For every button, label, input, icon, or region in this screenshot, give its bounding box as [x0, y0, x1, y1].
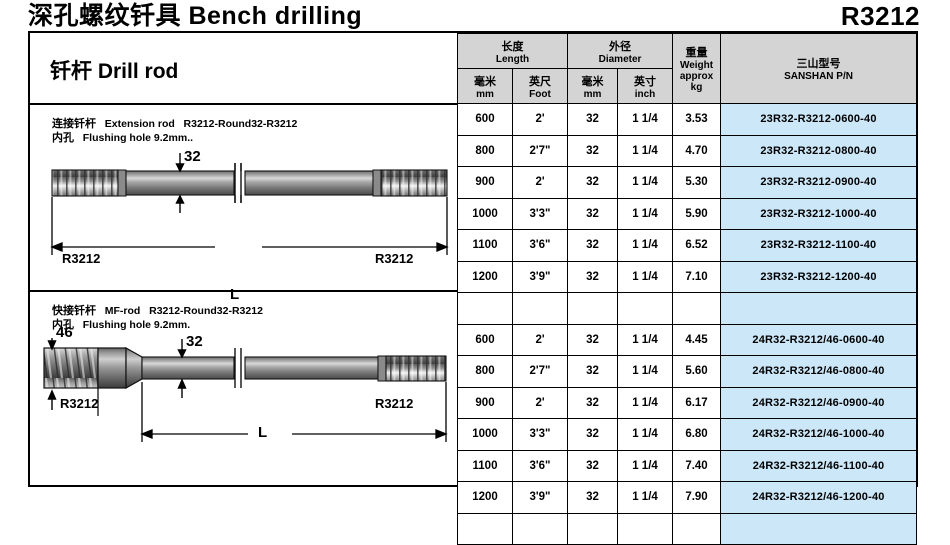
- cell-weight: 7.40: [673, 450, 721, 482]
- mf-rod-length-label: L: [258, 424, 267, 441]
- document-header: 深孔螺纹钎具 Bench drilling R3212: [0, 0, 950, 30]
- header-weight-unit: kg: [673, 82, 720, 93]
- header-weight: 重量 Weight approx kg: [673, 34, 721, 104]
- cell-part-number: 24R32-R3212/46-0900-40: [721, 387, 917, 419]
- cell-part-number: 23R32-R3212-1100-40: [721, 230, 917, 262]
- table-row: 6002'321 1/43.5323R32-R3212-0600-40: [458, 104, 917, 136]
- cell-length-foot: 3'6": [513, 230, 568, 262]
- series-code: R3212: [841, 1, 920, 31]
- cell-dia-inch: 1 1/4: [618, 419, 673, 451]
- cell-dia-mm: 32: [568, 419, 618, 451]
- header-dia-inch-en: inch: [618, 89, 672, 100]
- table-header-row-group: 长度 Length 外径 Diameter 重量 Weight approx k…: [458, 34, 917, 69]
- spacer-cell-weight: [673, 293, 721, 325]
- extension-rod-hole-note: 内孔 Flushing hole 9.2mm..: [52, 131, 193, 145]
- cell-length-foot: 2'7": [513, 356, 568, 388]
- extension-rod-left-thread-label: R3212: [62, 251, 100, 266]
- specifications-table-panel: 长度 Length 外径 Diameter 重量 Weight approx k…: [457, 33, 916, 485]
- cell-weight: 5.30: [673, 167, 721, 199]
- cell-length-mm: 600: [458, 104, 513, 136]
- cell-part-number: 24R32-R3212/46-0800-40: [721, 356, 917, 388]
- cell-weight: 6.17: [673, 387, 721, 419]
- cell-length-foot: 2': [513, 324, 568, 356]
- mf-rod-desc-en: MF-rod: [105, 305, 141, 317]
- cell-weight: 5.90: [673, 198, 721, 230]
- header-part-number: 三山型号 SANSHAN P/N: [721, 34, 917, 104]
- drawings-panel: 钎杆 Drill rod 连接钎杆 Extension rod R3212-Ro…: [30, 33, 457, 485]
- spacer-cell-part-number: [721, 293, 917, 325]
- mf-rod-dia-label: 32: [186, 333, 203, 350]
- cell-length-mm: 1200: [458, 261, 513, 293]
- cell-dia-mm: 32: [568, 387, 618, 419]
- mf-rod-drawing: 46 32 R3212 R3212 L: [30, 338, 457, 478]
- cell-weight: 5.60: [673, 356, 721, 388]
- header-dia-mm-en: mm: [568, 89, 617, 100]
- cell-length-foot: 3'6": [513, 450, 568, 482]
- cell-dia-mm: 32: [568, 135, 618, 167]
- cell-dia-inch: 1 1/4: [618, 450, 673, 482]
- header-diameter-cn: 外径: [568, 38, 672, 54]
- cell-length-foot: 3'3": [513, 419, 568, 451]
- cell-dia-mm: 32: [568, 450, 618, 482]
- header-dia-mm-cn: 毫米: [568, 73, 617, 89]
- table-body: 6002'321 1/43.5323R32-R3212-0600-408002'…: [458, 104, 917, 545]
- mf-rod-desc-cn: 快接钎杆: [52, 304, 96, 317]
- header-length-mm-en: mm: [458, 89, 512, 100]
- header-length-mm-cn: 毫米: [458, 73, 512, 89]
- cell-part-number: 24R32-R3212/46-1200-40: [721, 482, 917, 514]
- header-diameter-en: Diameter: [568, 54, 672, 65]
- cell-weight: 4.45: [673, 324, 721, 356]
- cell-length-mm: 1100: [458, 450, 513, 482]
- spacer-cell-dia-inch: [618, 293, 673, 325]
- extension-rod-description: 连接钎杆 Extension rod R3212-Round32-R3212: [52, 117, 297, 131]
- cell-length-foot: 2'7": [513, 135, 568, 167]
- cell-part-number: 24R32-R3212/46-1000-40: [721, 419, 917, 451]
- table-row: 8002'7"321 1/45.6024R32-R3212/46-0800-40: [458, 356, 917, 388]
- spacer-cell-length-foot: [513, 513, 568, 545]
- header-length-foot: 英尺 Foot: [513, 69, 568, 104]
- header-length-foot-cn: 英尺: [513, 73, 567, 89]
- table-row: 9002'321 1/46.1724R32-R3212/46-0900-40: [458, 387, 917, 419]
- panel-title-en: Drill rod: [98, 60, 179, 83]
- cell-dia-mm: 32: [568, 324, 618, 356]
- cell-weight: 4.70: [673, 135, 721, 167]
- cell-dia-mm: 32: [568, 104, 618, 136]
- cell-dia-inch: 1 1/4: [618, 104, 673, 136]
- table-row: 8002'7"321 1/44.7023R32-R3212-0800-40: [458, 135, 917, 167]
- page-title-cn: 深孔螺纹钎具: [28, 1, 181, 30]
- cell-dia-mm: 32: [568, 167, 618, 199]
- header-weight-cn: 重量: [673, 44, 720, 60]
- spec-block-mf-rod: 快接钎杆 MF-rod R3212-Round32-R3212 内孔 Flush…: [30, 290, 457, 487]
- spacer-cell-dia-mm: [568, 293, 618, 325]
- cell-length-foot: 2': [513, 387, 568, 419]
- spacer-cell-length-mm: [458, 513, 513, 545]
- mf-rod-sleeve-dia-label: 46: [56, 324, 73, 341]
- page-title-en: Bench drilling: [188, 2, 362, 30]
- table-row: 12003'9"321 1/47.9024R32-R3212/46-1200-4…: [458, 482, 917, 514]
- spacer-cell-length-mm: [458, 293, 513, 325]
- cell-weight: 6.80: [673, 419, 721, 451]
- cell-length-mm: 800: [458, 356, 513, 388]
- header-part-number-en: SANSHAN P/N: [721, 71, 916, 82]
- table-spacer-row: [458, 293, 917, 325]
- header-part-number-cn: 三山型号: [721, 55, 916, 71]
- extension-rod-desc-spec: R3212-Round32-R3212: [184, 118, 298, 130]
- spacer-cell-dia-inch: [618, 513, 673, 545]
- cell-part-number: 24R32-R3212/46-1100-40: [721, 450, 917, 482]
- header-length-foot-en: Foot: [513, 89, 567, 100]
- extension-rod-drawing: 32 R3212 R3212 L: [30, 151, 457, 286]
- cell-weight: 3.53: [673, 104, 721, 136]
- table-row: 9002'321 1/45.3023R32-R3212-0900-40: [458, 167, 917, 199]
- header-weight-en: Weight: [673, 60, 720, 71]
- cell-dia-inch: 1 1/4: [618, 198, 673, 230]
- header-length-en: Length: [458, 54, 567, 65]
- cell-dia-inch: 1 1/4: [618, 356, 673, 388]
- cell-part-number: 23R32-R3212-0600-40: [721, 104, 917, 136]
- spec-sheet-frame: 钎杆 Drill rod 连接钎杆 Extension rod R3212-Ro…: [28, 31, 918, 487]
- cell-length-mm: 800: [458, 135, 513, 167]
- panel-title-cn: 钎杆: [50, 59, 92, 83]
- table-row: 11003'6"321 1/46.5223R32-R3212-1100-40: [458, 230, 917, 262]
- mf-rod-right-thread-label: R3212: [375, 396, 413, 411]
- mf-rod-desc-spec: R3212-Round32-R3212: [149, 305, 263, 317]
- cell-part-number: 24R32-R3212/46-0600-40: [721, 324, 917, 356]
- table-row: 11003'6"321 1/47.4024R32-R3212/46-1100-4…: [458, 450, 917, 482]
- cell-length-foot: 3'3": [513, 198, 568, 230]
- header-length: 长度 Length: [458, 34, 568, 69]
- cell-length-mm: 900: [458, 167, 513, 199]
- cell-weight: 7.10: [673, 261, 721, 293]
- table-row: 6002'321 1/44.4524R32-R3212/46-0600-40: [458, 324, 917, 356]
- spacer-cell-part-number: [721, 513, 917, 545]
- spacer-cell-weight: [673, 513, 721, 545]
- header-dia-inch: 英寸 inch: [618, 69, 673, 104]
- mf-rod-hole-en: Flushing hole 9.2mm.: [83, 319, 190, 331]
- cell-part-number: 23R32-R3212-1000-40: [721, 198, 917, 230]
- extension-rod-right-thread-label: R3212: [375, 251, 413, 266]
- cell-length-mm: 1200: [458, 482, 513, 514]
- cell-length-foot: 2': [513, 104, 568, 136]
- cell-length-foot: 2': [513, 167, 568, 199]
- specifications-table: 长度 Length 外径 Diameter 重量 Weight approx k…: [457, 33, 917, 545]
- mf-rod-hole-note: 内孔 Flushing hole 9.2mm.: [52, 318, 190, 332]
- cell-part-number: 23R32-R3212-0800-40: [721, 135, 917, 167]
- header-length-cn: 长度: [458, 38, 567, 54]
- header-weight-approx: approx: [673, 71, 720, 82]
- table-row: 10003'3"321 1/45.9023R32-R3212-1000-40: [458, 198, 917, 230]
- page-title: 深孔螺纹钎具 Bench drilling: [28, 1, 362, 31]
- spacer-cell-length-foot: [513, 293, 568, 325]
- cell-weight: 7.90: [673, 482, 721, 514]
- table-row: 10003'3"321 1/46.8024R32-R3212/46-1000-4…: [458, 419, 917, 451]
- extension-rod-hole-en: Flushing hole 9.2mm..: [83, 132, 193, 144]
- cell-dia-inch: 1 1/4: [618, 230, 673, 262]
- table-spacer-row: [458, 513, 917, 545]
- mf-rod-left-thread-label: R3212: [60, 396, 98, 411]
- cell-dia-mm: 32: [568, 356, 618, 388]
- cell-length-mm: 1100: [458, 230, 513, 262]
- extension-rod-dia-label: 32: [184, 148, 201, 165]
- cell-length-mm: 900: [458, 387, 513, 419]
- spec-block-extension-rod: 连接钎杆 Extension rod R3212-Round32-R3212 内…: [30, 103, 457, 290]
- header-length-mm: 毫米 mm: [458, 69, 513, 104]
- extension-rod-hole-cn: 内孔: [52, 131, 74, 144]
- extension-rod-desc-cn: 连接钎杆: [52, 117, 96, 130]
- cell-dia-inch: 1 1/4: [618, 261, 673, 293]
- cell-length-mm: 1000: [458, 419, 513, 451]
- cell-dia-inch: 1 1/4: [618, 135, 673, 167]
- cell-dia-mm: 32: [568, 482, 618, 514]
- header-diameter: 外径 Diameter: [568, 34, 673, 69]
- cell-dia-mm: 32: [568, 198, 618, 230]
- cell-weight: 6.52: [673, 230, 721, 262]
- cell-length-mm: 600: [458, 324, 513, 356]
- header-dia-inch-cn: 英寸: [618, 73, 672, 89]
- cell-length-foot: 3'9": [513, 261, 568, 293]
- cell-part-number: 23R32-R3212-1200-40: [721, 261, 917, 293]
- table-row: 12003'9"321 1/47.1023R32-R3212-1200-40: [458, 261, 917, 293]
- cell-dia-mm: 32: [568, 230, 618, 262]
- cell-dia-inch: 1 1/4: [618, 482, 673, 514]
- cell-length-mm: 1000: [458, 198, 513, 230]
- mf-rod-description: 快接钎杆 MF-rod R3212-Round32-R3212: [52, 304, 263, 318]
- cell-dia-inch: 1 1/4: [618, 167, 673, 199]
- extension-rod-desc-en: Extension rod: [105, 118, 175, 130]
- header-dia-mm: 毫米 mm: [568, 69, 618, 104]
- panel-title: 钎杆 Drill rod: [50, 55, 178, 85]
- cell-length-foot: 3'9": [513, 482, 568, 514]
- spacer-cell-dia-mm: [568, 513, 618, 545]
- cell-dia-inch: 1 1/4: [618, 324, 673, 356]
- cell-dia-inch: 1 1/4: [618, 387, 673, 419]
- cell-dia-mm: 32: [568, 261, 618, 293]
- table-header: 长度 Length 外径 Diameter 重量 Weight approx k…: [458, 34, 917, 104]
- cell-part-number: 23R32-R3212-0900-40: [721, 167, 917, 199]
